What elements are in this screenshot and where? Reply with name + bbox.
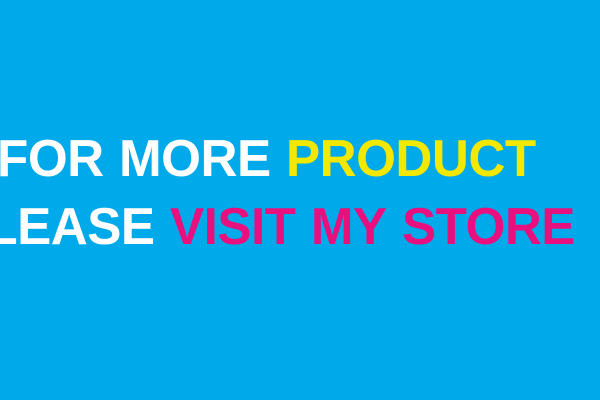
headline-word-more: MORE — [119, 130, 271, 188]
headline-block: FORMOREPRODUCT PLEASEVISITMYSTORE — [0, 0, 600, 400]
headline-word-my: MY — [311, 198, 387, 256]
headline-word-visit: VISIT — [170, 198, 296, 256]
headline-line-store: PLEASEVISITMYSTORE — [0, 201, 544, 253]
headline-word-product: PRODUCT — [286, 130, 536, 188]
headline-line-product: FORMOREPRODUCT — [0, 133, 588, 185]
promotional-banner: FORMOREPRODUCT PLEASEVISITMYSTORE — [0, 0, 600, 400]
headline-word-store: STORE — [402, 198, 575, 256]
headline-word-please: PLEASE — [0, 198, 155, 256]
headline-word-for: FOR — [0, 130, 104, 188]
